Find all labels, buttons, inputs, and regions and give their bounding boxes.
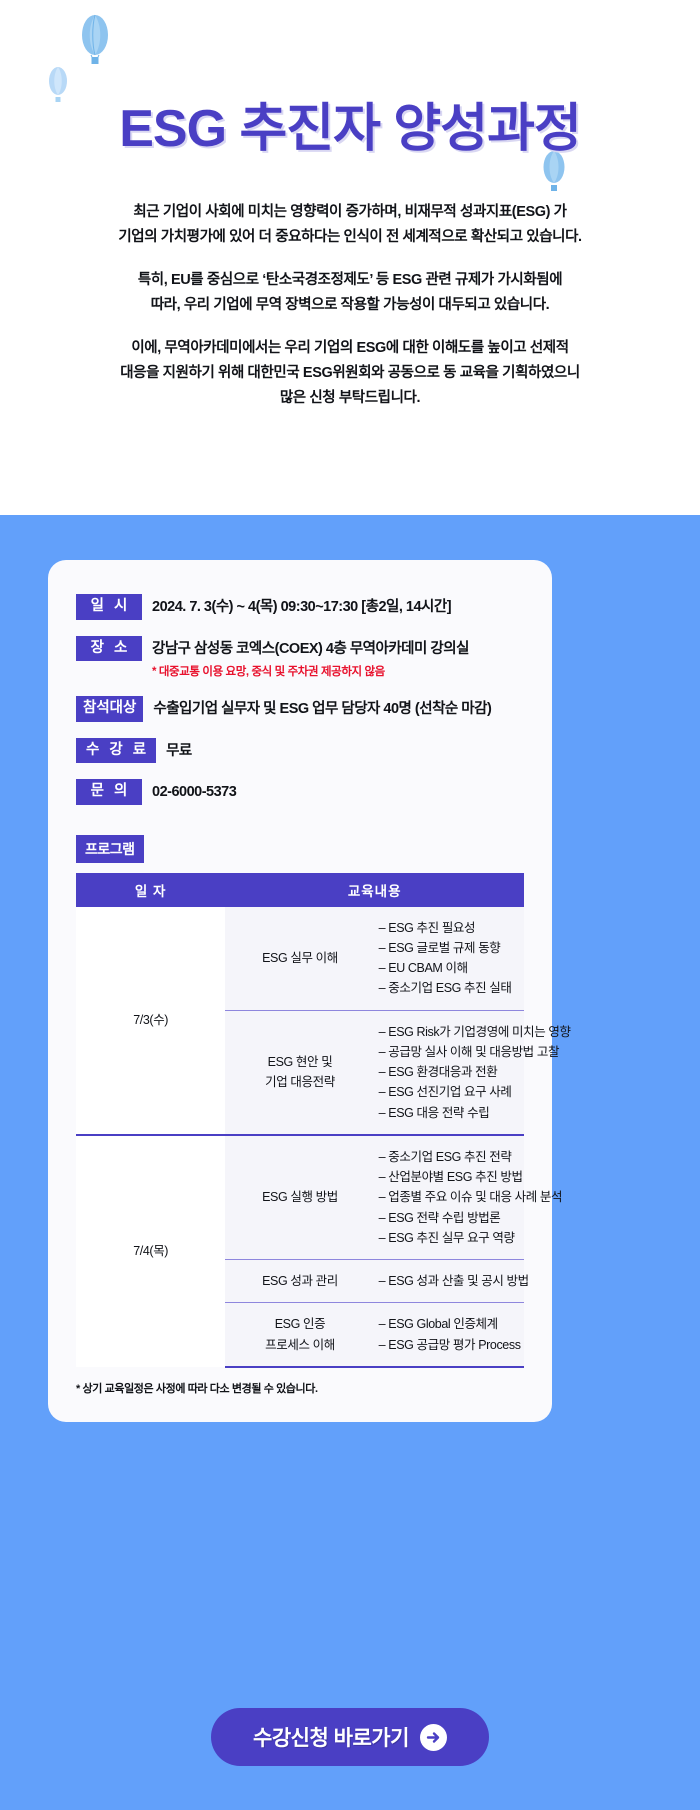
column-header-content: 교육내용 [225, 873, 524, 907]
cell-day: 7/3(수) [76, 907, 225, 1135]
info-value-wrap: 강남구 삼성동 코엑스(COEX) 4층 무역아카데미 강의실 * 대중교통 이… [142, 636, 524, 680]
info-label: 참석대상 [76, 696, 143, 722]
info-row-date: 일 시 2024. 7. 3(수) ~ 4(목) 09:30~17:30 [총2… [76, 594, 524, 620]
detail-line: – 업종별 주요 이슈 및 대응 사례 분석 [379, 1187, 520, 1207]
cell-day: 7/4(목) [76, 1135, 225, 1367]
hero-paragraph: 이에, 무역아카데미에서는 우리 기업의 ESG에 대한 이해도를 높이고 선제… [0, 336, 700, 412]
cta-label: 수강신청 바로가기 [253, 1722, 409, 1752]
detail-line: – ESG Global 인증체계 [379, 1314, 520, 1334]
program-table: 일 자 교육내용 7/3(수) ESG 실무 이해 – ESG 추진 필요성 –… [76, 873, 524, 1368]
info-row-fee: 수 강 료 무료 [76, 738, 524, 764]
detail-line: – 중소기업 ESG 추진 실태 [379, 978, 520, 998]
arrow-right-circle-icon [420, 1724, 447, 1751]
cell-details: – 중소기업 ESG 추진 전략 – 산업분야별 ESG 추진 방법 – 업종별… [375, 1135, 524, 1260]
detail-line: – ESG 환경대응과 전환 [379, 1062, 520, 1082]
info-row-location: 장 소 강남구 삼성동 코엑스(COEX) 4층 무역아카데미 강의실 * 대중… [76, 636, 524, 680]
info-label: 장 소 [76, 636, 142, 662]
cell-topic: ESG 성과 관리 [225, 1260, 374, 1303]
hero-body-text: 최근 기업이 사회에 미치는 영향력이 증가하며, 비재무적 성과지표(ESG)… [0, 200, 700, 429]
info-row-contact: 문 의 02-6000-5373 [76, 779, 524, 805]
cell-topic: ESG 실행 방법 [225, 1135, 374, 1260]
cell-details: – ESG Global 인증체계 – ESG 공급망 평가 Process [375, 1303, 524, 1367]
info-card: 일 시 2024. 7. 3(수) ~ 4(목) 09:30~17:30 [총2… [48, 560, 552, 1422]
detail-line: – 공급망 실사 이해 및 대응방법 고찰 [379, 1042, 520, 1062]
page-title: ESG 추진자 양성과정 [0, 86, 700, 161]
hot-air-balloon-icon [78, 14, 112, 70]
detail-line: – ESG 성과 산출 및 공시 방법 [379, 1271, 520, 1291]
detail-line: – ESG 글로벌 규제 동향 [379, 938, 520, 958]
table-row: 7/4(목) ESG 실행 방법 – 중소기업 ESG 추진 전략 – 산업분야… [76, 1135, 524, 1260]
detail-line: – 중소기업 ESG 추진 전략 [379, 1147, 520, 1167]
hero-paragraph: 특히, EU를 중심으로 ‘탄소국경조정제도’ 등 ESG 관련 규제가 가시화… [0, 268, 700, 319]
detail-line: – ESG 선진기업 요구 사례 [379, 1082, 520, 1102]
table-header-row: 일 자 교육내용 [76, 873, 524, 907]
location-note: * 대중교통 이용 요망, 중식 및 주차권 제공하지 않음 [152, 664, 524, 680]
detail-line: – ESG 전략 수립 방법론 [379, 1208, 520, 1228]
info-value: 수출입기업 실무자 및 ESG 업무 담당자 40명 (선착순 마감) [143, 696, 524, 719]
detail-line: – ESG 추진 실무 요구 역량 [379, 1228, 520, 1248]
cta-container: 수강신청 바로가기 [0, 1708, 700, 1766]
info-value: 2024. 7. 3(수) ~ 4(목) 09:30~17:30 [총2일, 1… [142, 594, 524, 617]
detail-line: – 산업분야별 ESG 추진 방법 [379, 1167, 520, 1187]
hero-paragraph: 최근 기업이 사회에 미치는 영향력이 증가하며, 비재무적 성과지표(ESG)… [0, 200, 700, 251]
table-footnote: * 상기 교육일정은 사정에 따라 다소 변경될 수 있습니다. [76, 1380, 524, 1396]
info-label: 수 강 료 [76, 738, 156, 764]
cell-topic: ESG 현안 및 기업 대응전략 [225, 1010, 374, 1135]
info-value: 02-6000-5373 [142, 779, 524, 802]
info-label: 일 시 [76, 594, 142, 620]
cell-details: – ESG 추진 필요성 – ESG 글로벌 규제 동향 – EU CBAM 이… [375, 907, 524, 1011]
info-value: 강남구 삼성동 코엑스(COEX) 4층 무역아카데미 강의실 [152, 639, 524, 659]
details-section: 일 시 2024. 7. 3(수) ~ 4(목) 09:30~17:30 [총2… [0, 515, 700, 1810]
cell-topic: ESG 실무 이해 [225, 907, 374, 1011]
detail-line: – ESG 추진 필요성 [379, 918, 520, 938]
esg-training-poster: ESG 추진자 양성과정 최근 기업이 사회에 미치는 영향력이 증가하며, 비… [0, 0, 700, 1810]
table-row: 7/3(수) ESG 실무 이해 – ESG 추진 필요성 – ESG 글로벌 … [76, 907, 524, 1011]
info-label: 문 의 [76, 779, 142, 805]
cell-details: – ESG 성과 산출 및 공시 방법 [375, 1260, 524, 1303]
info-row-audience: 참석대상 수출입기업 실무자 및 ESG 업무 담당자 40명 (선착순 마감) [76, 696, 524, 722]
program-section-tag: 프로그램 [76, 835, 144, 863]
detail-line: – ESG 공급망 평가 Process [379, 1335, 520, 1355]
detail-line: – ESG 대응 전략 수립 [379, 1103, 520, 1123]
detail-line: – EU CBAM 이해 [379, 958, 520, 978]
apply-now-button[interactable]: 수강신청 바로가기 [211, 1708, 489, 1766]
cell-details: – ESG Risk가 기업경영에 미치는 영향 – 공급망 실사 이해 및 대… [375, 1010, 524, 1135]
column-header-day: 일 자 [76, 873, 225, 907]
cell-topic: ESG 인증 프로세스 이해 [225, 1303, 374, 1367]
detail-line: – ESG Risk가 기업경영에 미치는 영향 [379, 1022, 520, 1042]
info-value: 무료 [156, 738, 524, 761]
